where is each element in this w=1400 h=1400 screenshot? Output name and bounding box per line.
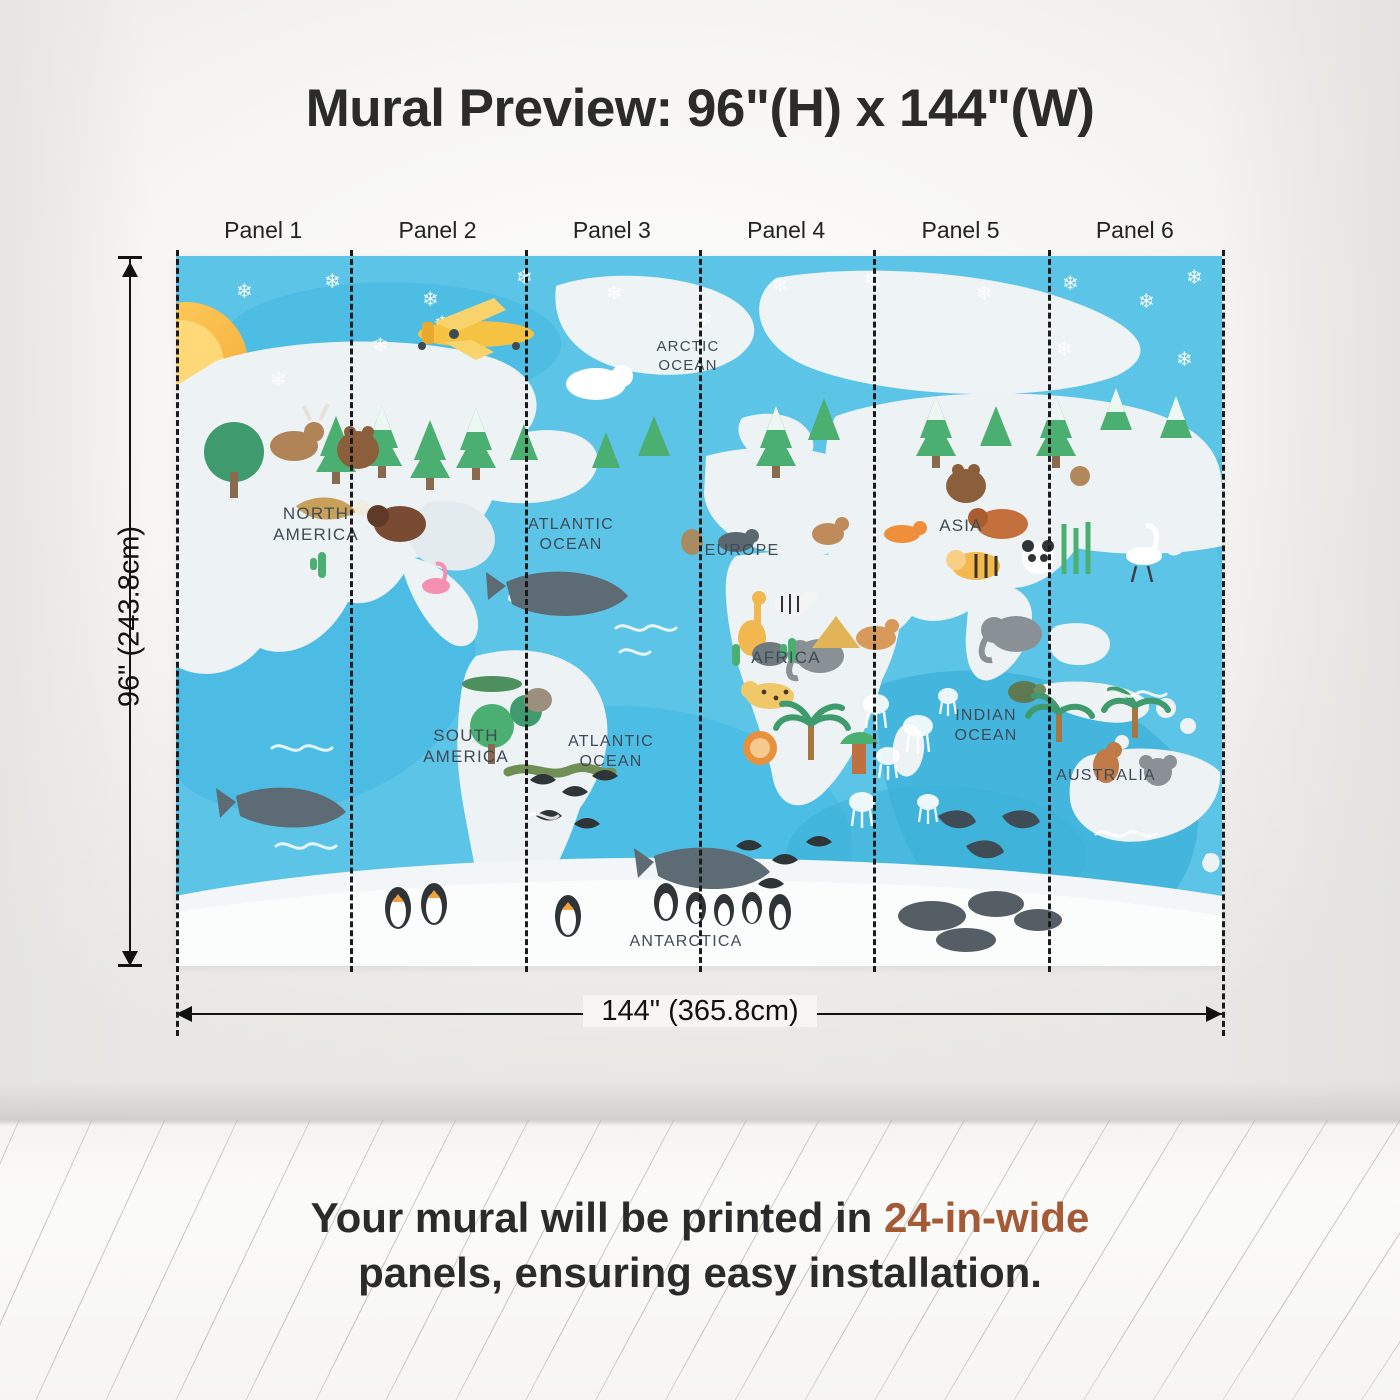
caption-line-2: panels, ensuring easy installation. bbox=[0, 1245, 1400, 1300]
wall-shadow-right bbox=[1210, 0, 1400, 1120]
svg-text:❄: ❄ bbox=[1186, 265, 1203, 289]
svg-text:❄: ❄ bbox=[422, 287, 439, 311]
panel-guide-3 bbox=[699, 250, 702, 972]
panel-label-6: Panel 6 bbox=[1050, 217, 1220, 244]
panel-label-1: Panel 1 bbox=[178, 217, 348, 244]
floor-edge bbox=[0, 1120, 1400, 1126]
panel-label-3: Panel 3 bbox=[527, 217, 697, 244]
panel-guide-end bbox=[1222, 250, 1225, 972]
panel-label-5: Panel 5 bbox=[876, 217, 1046, 244]
height-arrow-down bbox=[122, 951, 138, 966]
svg-text:❄: ❄ bbox=[372, 333, 389, 357]
map-label-australia: AUSTRALIA bbox=[1056, 767, 1156, 784]
svg-text:❄: ❄ bbox=[606, 281, 623, 305]
svg-text:❄: ❄ bbox=[1138, 289, 1155, 313]
panel-guide-4 bbox=[873, 250, 876, 972]
svg-text:❄: ❄ bbox=[1062, 271, 1079, 295]
panel-guide-5 bbox=[1048, 250, 1051, 972]
map-label-africa: AFRICA bbox=[751, 648, 821, 667]
map-label-antarctica: ANTARCTICA bbox=[629, 933, 742, 950]
caption-text-before: Your mural will be printed in bbox=[311, 1194, 884, 1241]
map-label-asia: ASIA bbox=[939, 516, 983, 535]
svg-text:❄: ❄ bbox=[772, 273, 789, 297]
svg-text:❄: ❄ bbox=[1176, 347, 1193, 371]
mural-preview-page: Mural Preview: 96"(H) x 144"(W) Panel 1P… bbox=[0, 0, 1400, 1400]
svg-text:❄: ❄ bbox=[270, 367, 287, 391]
panel-label-2: Panel 2 bbox=[353, 217, 523, 244]
panel-label-4: Panel 4 bbox=[701, 217, 871, 244]
svg-text:❄: ❄ bbox=[976, 281, 993, 305]
page-title: Mural Preview: 96"(H) x 144"(W) bbox=[0, 78, 1400, 139]
footer-caption: Your mural will be printed in 24-in-wide… bbox=[0, 1190, 1400, 1301]
panel-guide-start bbox=[176, 250, 179, 972]
map-label-europe: EUROPE bbox=[705, 542, 780, 559]
wall-base-shadow bbox=[0, 1080, 1400, 1120]
width-dimension-label: 144" (365.8cm) bbox=[0, 995, 1400, 1028]
height-dimension-label: 96" (243.8cm) bbox=[114, 467, 147, 767]
svg-text:❄: ❄ bbox=[324, 269, 341, 293]
caption-accent: 24-in-wide bbox=[884, 1194, 1089, 1241]
height-arrow-up bbox=[122, 262, 138, 277]
height-cap-top bbox=[118, 256, 142, 259]
panel-guide-1 bbox=[350, 250, 353, 972]
caption-line-1: Your mural will be printed in 24-in-wide bbox=[0, 1190, 1400, 1245]
svg-text:❄: ❄ bbox=[236, 279, 253, 303]
svg-text:❄: ❄ bbox=[1056, 337, 1073, 361]
panel-guide-2 bbox=[525, 250, 528, 972]
